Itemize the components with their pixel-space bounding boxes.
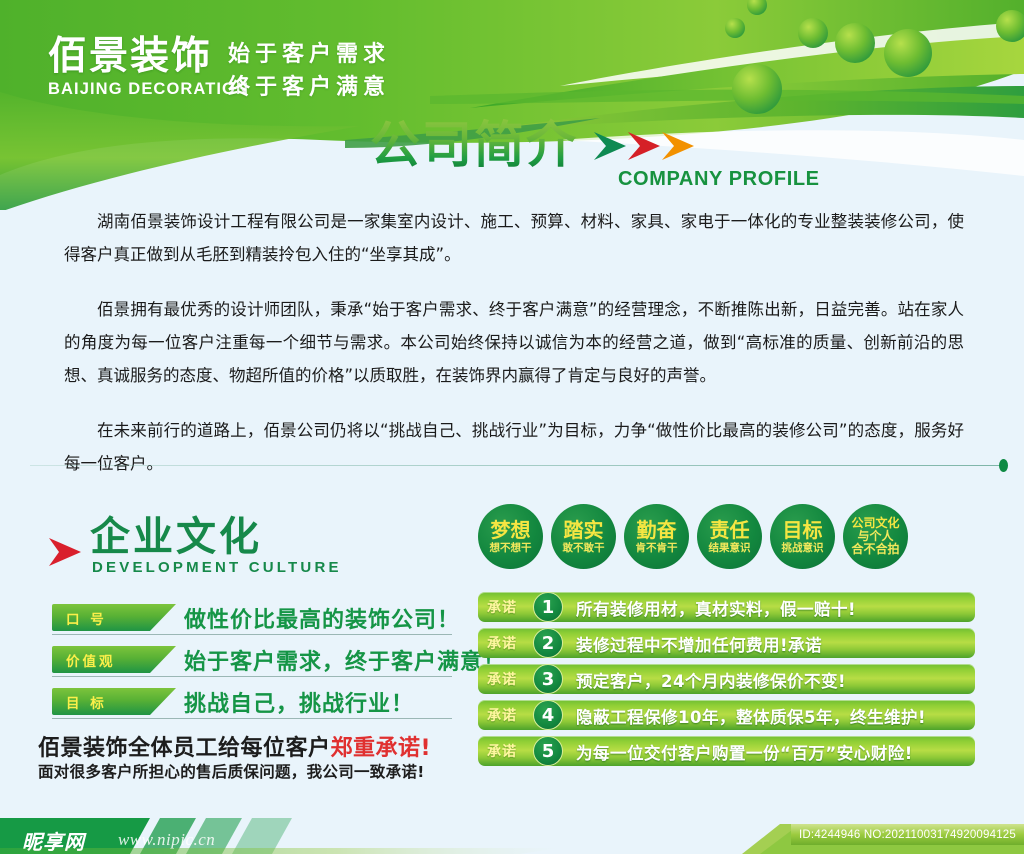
- culture-circle-sub: 敢不敢干: [563, 542, 605, 554]
- culture-value-tag: 口 号: [52, 604, 176, 631]
- promise-bar-label: 承诺: [487, 597, 517, 617]
- culture-value-underline: [52, 718, 452, 719]
- culture-circle-sub: 想不想干: [490, 542, 532, 554]
- promise-bar-text: 为每一位交付客户购置一份“百万”安心财险!: [576, 740, 913, 764]
- culture-circle-main: 责任: [710, 519, 750, 541]
- promise-headline: 佰景装饰全体员工给每位客户郑重承诺!: [38, 730, 431, 762]
- culture-circle-main: 梦想: [491, 519, 531, 541]
- promise-bar-text: 预定客户，24个月内装修保价不变!: [576, 668, 846, 692]
- footer-image-id: ID:4244946 NO:20211003174920094125: [791, 824, 1024, 845]
- culture-value-tag: 价值观: [52, 646, 176, 673]
- header-decoration-graphic: [0, 0, 1024, 210]
- footer-site-url: www.nipic.cn: [118, 830, 215, 850]
- culture-circle: 目标 挑战意识: [770, 504, 835, 569]
- promise-bar-label: 承诺: [487, 633, 517, 653]
- decorative-ball: [884, 29, 932, 77]
- profile-paragraph-2: 佰景拥有最优秀的设计师团队，秉承“始于客户需求、终于客户满意”的经营理念，不断推…: [64, 293, 964, 392]
- promise-bar-number: 4: [533, 700, 563, 730]
- decorative-ball: [725, 18, 745, 38]
- decorative-ball: [798, 18, 828, 48]
- culture-value-underline: [52, 676, 452, 677]
- promise-subline: 面对很多客户所担心的售后质保问题，我公司一致承诺!: [38, 760, 425, 782]
- company-profile-title-row: 公司简介: [370, 118, 702, 172]
- company-profile-body: 湖南佰景装饰设计工程有限公司是一家集室内设计、施工、预算、材料、家具、家电于一体…: [64, 205, 964, 502]
- culture-value-tag-label: 目 标: [66, 692, 107, 712]
- section-divider: [30, 465, 1005, 466]
- decorative-ball: [835, 23, 875, 63]
- promise-bar-label: 承诺: [487, 741, 517, 761]
- promise-headline-plain: 佰景装饰全体员工给每位客户: [38, 736, 331, 761]
- promise-bar: 承诺 2 装修过程中不增加任何费用!承诺: [478, 628, 975, 658]
- promise-bar-number: 3: [533, 664, 563, 694]
- culture-value-row: 口 号 做性价比最高的装饰公司！: [52, 604, 452, 638]
- culture-circle-main: 目标: [783, 519, 823, 541]
- culture-circle: 责任 结果意识: [697, 504, 762, 569]
- culture-circle-sub: 挑战意识: [782, 542, 824, 554]
- culture-value-list: 口 号 做性价比最高的装饰公司！ 价值观 始于客户需求，终于客户满意！ 目 标 …: [52, 604, 452, 730]
- culture-circle-group: 梦想 想不想干 踏实 敢不敢干 勤奋 肯不肯干 责任 结果意识 目标 挑战意识 …: [478, 504, 908, 569]
- culture-value-tag: 目 标: [52, 688, 176, 715]
- culture-circle-sub: 肯不肯干: [636, 542, 678, 554]
- promise-bar-number: 2: [533, 628, 563, 658]
- promise-bar-text: 隐蔽工程保修10年，整体质保5年，终生维护!: [576, 704, 926, 728]
- triple-arrow-icon: [592, 128, 702, 168]
- promise-bar-list: 承诺 1 所有装修用材，真材实料，假一赔十! 承诺 2 装修过程中不增加任何费用…: [478, 592, 975, 772]
- promise-headline-highlight: 郑重承诺!: [331, 736, 432, 761]
- red-arrow-icon: [48, 536, 84, 568]
- culture-circle: 勤奋 肯不肯干: [624, 504, 689, 569]
- culture-circle: 踏实 敢不敢干: [551, 504, 616, 569]
- profile-paragraph-1: 湖南佰景装饰设计工程有限公司是一家集室内设计、施工、预算、材料、家具、家电于一体…: [64, 205, 964, 271]
- culture-circle: 公司文化 与个人 合不合拍: [843, 504, 908, 569]
- footer-site-logo: 昵享网: [22, 826, 85, 854]
- culture-circle: 梦想 想不想干: [478, 504, 543, 569]
- culture-value-text: 挑战自己，挑战行业！: [184, 686, 414, 718]
- promise-bar: 承诺 5 为每一位交付客户购置一份“百万”安心财险!: [478, 736, 975, 766]
- culture-value-underline: [52, 634, 452, 635]
- promise-bar-number: 1: [533, 592, 563, 622]
- footer-watermark-bar: 昵享网 www.nipic.cn ID:4244946 NO:202110031…: [0, 806, 1024, 854]
- culture-value-row: 价值观 始于客户需求，终于客户满意！: [52, 646, 452, 680]
- header-banner: 佰景装饰 BAIJING DECORATION 始于客户需求 终于客户满意: [0, 0, 1024, 210]
- slogan-line-2: 终于客户满意: [228, 71, 390, 104]
- culture-value-tag-label: 价值观: [66, 650, 116, 670]
- divider-end-dot: [999, 459, 1008, 472]
- culture-value-text: 做性价比最高的装饰公司！: [184, 602, 460, 634]
- culture-circle-main: 踏实: [564, 519, 604, 541]
- culture-circle-sub: 结果意识: [709, 542, 751, 554]
- promise-bar-label: 承诺: [487, 705, 517, 725]
- company-profile-title-en: COMPANY PROFILE: [618, 168, 820, 191]
- culture-value-text: 始于客户需求，终于客户满意！: [184, 644, 506, 676]
- culture-value-row: 目 标 挑战自己，挑战行业！: [52, 688, 452, 722]
- culture-circle-sub-b: 合不合拍: [851, 543, 899, 556]
- promise-bar: 承诺 1 所有装修用材，真材实料，假一赔十!: [478, 592, 975, 622]
- promise-bar: 承诺 3 预定客户，24个月内装修保价不变!: [478, 664, 975, 694]
- promise-bar-text: 所有装修用材，真材实料，假一赔十!: [576, 596, 856, 620]
- decorative-ball: [732, 64, 782, 114]
- brand-slogan: 始于客户需求 终于客户满意: [228, 38, 390, 104]
- promise-bar: 承诺 4 隐蔽工程保修10年，整体质保5年，终生维护!: [478, 700, 975, 730]
- promise-bar-label: 承诺: [487, 669, 517, 689]
- slogan-line-1: 始于客户需求: [228, 38, 390, 71]
- poster-canvas: 佰景装饰 BAIJING DECORATION 始于客户需求 终于客户满意 公司…: [0, 0, 1024, 854]
- company-profile-title-cn: 公司简介: [370, 118, 578, 172]
- culture-circle-main: 勤奋: [637, 519, 677, 541]
- promise-bar-text: 装修过程中不增加任何费用!承诺: [576, 632, 822, 656]
- culture-title-cn: 企业文化: [90, 504, 262, 562]
- profile-paragraph-3: 在未来前行的道路上，佰景公司仍将以“挑战自己、挑战行业”为目标，力争“做性价比最…: [64, 414, 964, 480]
- culture-title-en: DEVELOPMENT CULTURE: [92, 559, 342, 576]
- culture-value-tag-label: 口 号: [66, 608, 107, 628]
- promise-bar-number: 5: [533, 736, 563, 766]
